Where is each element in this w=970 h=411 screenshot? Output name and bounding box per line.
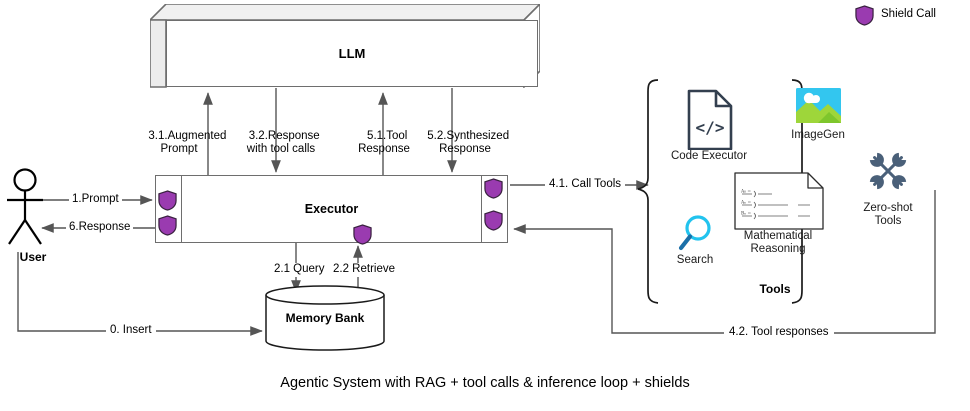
edge-label-5-1: 5.1.ToolResponse xyxy=(348,116,420,157)
edge-label-2-1-query: 2.1 Query xyxy=(272,263,327,277)
edge-label-1-prompt: 1.Prompt xyxy=(69,193,122,207)
tool-math-reasoning[interactable]: A₀ =Aₙ =Bₙ = MathematicalReasoning xyxy=(722,172,834,256)
tool-imagegen[interactable]: ImageGen xyxy=(768,88,868,142)
shield-icon-exec-left-top xyxy=(158,190,177,211)
legend: Shield Call xyxy=(855,4,970,28)
memory-bank-label: Memory Bank xyxy=(265,311,385,325)
tool-math-reasoning-label: MathematicalReasoning xyxy=(722,230,834,256)
tool-code-executor[interactable]: </> Code Executor xyxy=(655,88,763,163)
shield-icon-exec-center xyxy=(353,224,372,245)
tools-group-label: Tools xyxy=(720,282,830,296)
edge-label-6-response: 6.Response xyxy=(66,221,133,235)
shield-icon-legend xyxy=(855,5,874,26)
tool-imagegen-label: ImageGen xyxy=(768,129,868,142)
executor-label: Executor xyxy=(182,176,481,242)
legend-label: Shield Call xyxy=(881,8,936,22)
edge-label-5-2: 5.2.SynthesizedResponse xyxy=(420,116,510,157)
user-label: User xyxy=(5,250,61,264)
edge-label-2-2-retrieve: 2.2 Retrieve xyxy=(331,263,397,277)
llm-node: LLM xyxy=(150,4,540,88)
edge-label-3-2: 3.2.Responsewith tool calls xyxy=(237,116,325,157)
edge-label-4-2-tool-responses: 4.2. Tool responses xyxy=(724,326,834,340)
tool-code-executor-label: Code Executor xyxy=(655,150,763,163)
svg-text:Bₙ =: Bₙ = xyxy=(741,212,752,217)
svg-text:A₀ =: A₀ = xyxy=(740,190,751,195)
svg-text:Aₙ =: Aₙ = xyxy=(740,201,751,206)
tool-zero-shot[interactable]: Zero-shotTools xyxy=(840,142,936,228)
memory-bank-node: Memory Bank xyxy=(265,285,385,351)
diagram-caption: Agentic System with RAG + tool calls & i… xyxy=(0,375,970,391)
user-actor: User xyxy=(5,168,65,253)
shield-icon-exec-right-bottom xyxy=(484,210,503,231)
shield-icon-exec-left-bottom xyxy=(158,215,177,236)
edge-label-4-1-call-tools: 4.1. Call Tools xyxy=(545,178,625,192)
edge-label-3-1: 3.1.AugmentedPrompt xyxy=(142,116,216,157)
edge-label-0-insert: 0. Insert xyxy=(106,324,156,338)
tool-zero-shot-label: Zero-shotTools xyxy=(840,202,936,228)
executor-node: Executor xyxy=(155,175,508,243)
svg-text:</>: </> xyxy=(696,118,725,137)
shield-icon-exec-right-top xyxy=(484,178,503,199)
llm-label: LLM xyxy=(166,20,538,87)
